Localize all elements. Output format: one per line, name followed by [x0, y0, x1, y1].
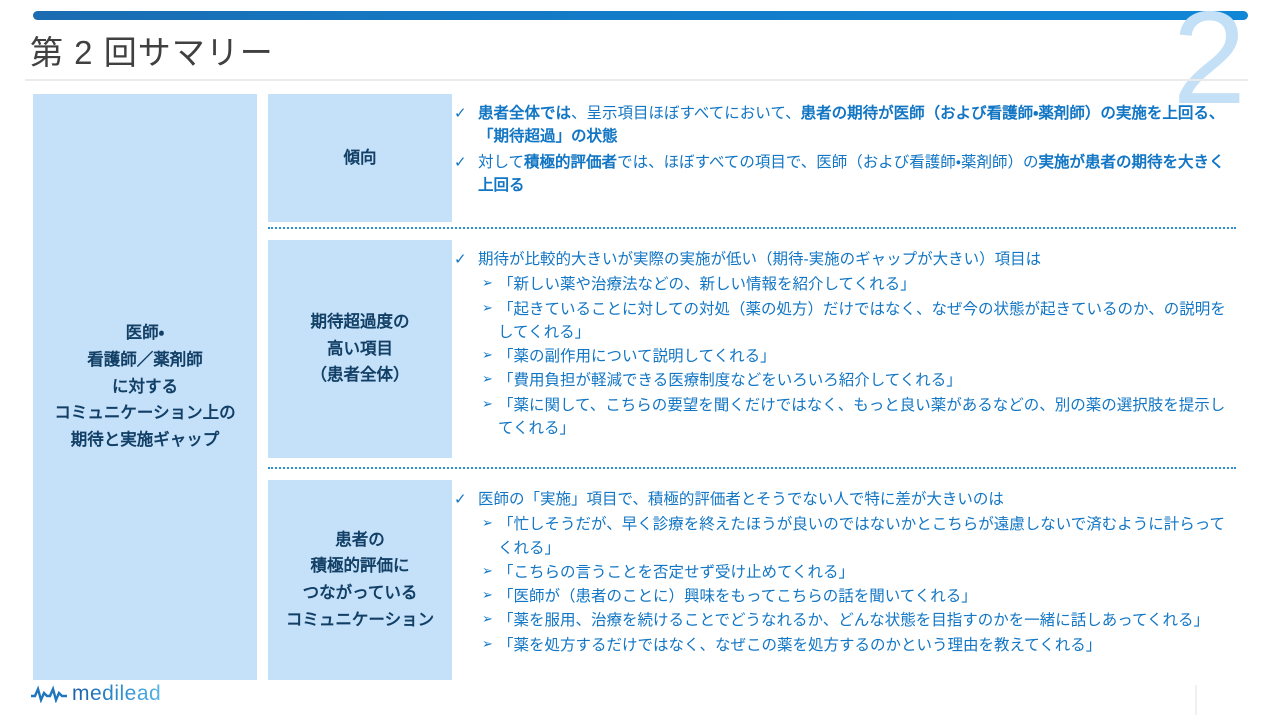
arrow-mark-icon: ➢: [482, 369, 498, 389]
sub-bullet-item: ➢「薬の副作用について説明してくれる」: [482, 345, 1236, 368]
section-label-expectation-gap: 期待超過度の 高い項目 （患者全体）: [268, 240, 452, 458]
top-accent-bar: [33, 11, 1248, 20]
sub-bullet-item: ➢「薬を服用、治療を続けることでどうなれるか、どんな状態を目指すのかを一緒に話し…: [482, 609, 1236, 632]
bullet-text-segment: 、呈示項目ほぼすべてにおいて、: [571, 105, 801, 122]
sub-bullet-item: ➢「医師が（患者のことに）興味をもってこちらの話を聞いてくれる」: [482, 585, 1236, 608]
bullet-text-segment: 医師の「実施」項目で、積極的評価者とそうでない人で特に差が大きいのは: [478, 491, 1004, 508]
page-title: 第 2 回サマリー: [30, 26, 274, 74]
bullet-item: ✓期待が比較的大きいが実際の実施が低い（期待-実施のギャップが大きい）項目は: [454, 248, 1236, 271]
bullet-text: 医師の「実施」項目で、積極的評価者とそうでない人で特に差が大きいのは: [478, 488, 1236, 511]
bullet-item: ✓患者全体では、呈示項目ほぼすべてにおいて、患者の期待が医師（および看護師・薬剤…: [454, 102, 1236, 149]
arrow-mark-icon: ➢: [482, 609, 498, 629]
bullet-item: ✓対して積極的評価者では、ほぼすべての項目で、医師（および看護師・薬剤師）の実施…: [454, 151, 1236, 198]
sub-bullet-item: ➢「薬に関して、こちらの要望を聞くだけではなく、もっと良い薬があるなどの、別の薬…: [482, 394, 1236, 441]
sub-bullet-text: 「こちらの言うことを否定せず受け止めてくれる」: [498, 561, 1236, 584]
sub-bullet-text: 「薬を処方するだけではなく、なぜこの薬を処方するのかという理由を教えてくれる」: [498, 634, 1236, 657]
arrow-mark-icon: ➢: [482, 273, 498, 293]
slide-content: 医師・ 看護師／薬剤師 に対する コミュニケーション上の 期待と実施ギャップ 傾…: [0, 94, 1280, 674]
theme-panel-label: 医師・ 看護師／薬剤師 に対する コミュニケーション上の 期待と実施ギャップ: [54, 320, 235, 454]
sub-bullet-item: ➢「こちらの言うことを否定せず受け止めてくれる」: [482, 561, 1236, 584]
sub-bullet-text: 「医師が（患者のことに）興味をもってこちらの話を聞いてくれる」: [498, 585, 1236, 608]
title-divider: [25, 79, 1248, 81]
sub-bullet-item: ➢「薬を処方するだけではなく、なぜこの薬を処方するのかという理由を教えてくれる」: [482, 634, 1236, 657]
bullet-text: 期待が比較的大きいが実際の実施が低い（期待-実施のギャップが大きい）項目は: [478, 248, 1236, 271]
bullet-text-segment: 積極的評価者: [524, 154, 617, 171]
sub-bullet-item: ➢「忙しそうだが、早く診療を終えたほうが良いのではないかとこちらが遠慮しないで済…: [482, 513, 1236, 560]
check-mark-icon: ✓: [454, 151, 478, 174]
section-label-text: 傾向: [344, 145, 377, 172]
sub-bullet-item: ➢「新しい薬や治療法などの、新しい情報を紹介してくれる」: [482, 273, 1236, 296]
bullet-text: 対して積極的評価者では、ほぼすべての項目で、医師（および看護師・薬剤師）の実施が…: [478, 151, 1236, 198]
section-label-trend: 傾向: [268, 94, 452, 222]
section-divider-2: [268, 467, 1236, 469]
sub-bullet-text: 「費用負担が軽減できる医療制度などをいろいろ紹介してくれる」: [498, 369, 1236, 392]
arrow-mark-icon: ➢: [482, 561, 498, 581]
section-body-trend: ✓患者全体では、呈示項目ほぼすべてにおいて、患者の期待が医師（および看護師・薬剤…: [454, 94, 1236, 222]
sub-bullet-text: 「忙しそうだが、早く診療を終えたほうが良いのではないかとこちらが遠慮しないで済む…: [498, 513, 1236, 560]
sub-bullet-item: ➢「費用負担が軽減できる医療制度などをいろいろ紹介してくれる」: [482, 369, 1236, 392]
section-row-expectation-gap: 期待超過度の 高い項目 （患者全体） ✓期待が比較的大きいが実際の実施が低い（期…: [268, 240, 1280, 458]
sub-bullet-text: 「起きていることに対しての対処（薬の処方）だけではなく、なぜ今の状態が起きている…: [498, 298, 1236, 345]
section-body-positive-evaluation: ✓医師の「実施」項目で、積極的評価者とそうでない人で特に差が大きいのは➢「忙しそ…: [454, 480, 1236, 680]
arrow-mark-icon: ➢: [482, 345, 498, 365]
brand-logo: medilead: [30, 682, 161, 706]
section-divider-1: [268, 227, 1236, 229]
section-row-trend: 傾向 ✓患者全体では、呈示項目ほぼすべてにおいて、患者の期待が医師（および看護師…: [268, 94, 1280, 222]
arrow-mark-icon: ➢: [482, 585, 498, 605]
arrow-mark-icon: ➢: [482, 394, 498, 414]
section-body-expectation-gap: ✓期待が比較的大きいが実際の実施が低い（期待-実施のギャップが大きい）項目は➢「…: [454, 240, 1236, 458]
arrow-mark-icon: ➢: [482, 634, 498, 654]
sub-bullet-text: 「薬の副作用について説明してくれる」: [498, 345, 1236, 368]
bullet-item: ✓医師の「実施」項目で、積極的評価者とそうでない人で特に差が大きいのは: [454, 488, 1236, 511]
bullet-text-segment: では、ほぼすべての項目で、医師（および看護師・薬剤師）の: [617, 154, 1038, 171]
sub-bullet-item: ➢「起きていることに対しての対処（薬の処方）だけではなく、なぜ今の状態が起きてい…: [482, 298, 1236, 345]
footer-divider-tick: [1195, 685, 1197, 715]
theme-panel: 医師・ 看護師／薬剤師 に対する コミュニケーション上の 期待と実施ギャップ: [33, 94, 257, 680]
bullet-text-segment: 対して: [478, 154, 524, 171]
sub-bullet-text: 「薬を服用、治療を続けることでどうなれるか、どんな状態を目指すのかを一緒に話しあ…: [498, 609, 1236, 632]
bullet-text: 患者全体では、呈示項目ほぼすべてにおいて、患者の期待が医師（および看護師・薬剤師…: [478, 102, 1236, 149]
bullet-text-segment: 期待が比較的大きいが実際の実施が低い（期待-実施のギャップが大きい）項目は: [478, 251, 1041, 268]
section-label-text: 期待超過度の 高い項目 （患者全体）: [311, 309, 410, 389]
section-row-positive-evaluation: 患者の 積極的評価に つながっている コミュニケーション ✓医師の「実施」項目で…: [268, 480, 1280, 680]
brand-name: medilead: [72, 682, 161, 706]
section-label-positive-evaluation: 患者の 積極的評価に つながっている コミュニケーション: [268, 480, 452, 680]
sub-bullet-text: 「薬に関して、こちらの要望を聞くだけではなく、もっと良い薬があるなどの、別の薬の…: [498, 394, 1236, 441]
check-mark-icon: ✓: [454, 248, 478, 271]
bullet-text-segment: 患者全体では: [478, 105, 571, 122]
sub-bullet-text: 「新しい薬や治療法などの、新しい情報を紹介してくれる」: [498, 273, 1236, 296]
check-mark-icon: ✓: [454, 102, 478, 125]
arrow-mark-icon: ➢: [482, 298, 498, 318]
arrow-mark-icon: ➢: [482, 513, 498, 533]
pulse-icon: [30, 685, 68, 703]
section-label-text: 患者の 積極的評価に つながっている コミュニケーション: [286, 527, 434, 634]
check-mark-icon: ✓: [454, 488, 478, 511]
